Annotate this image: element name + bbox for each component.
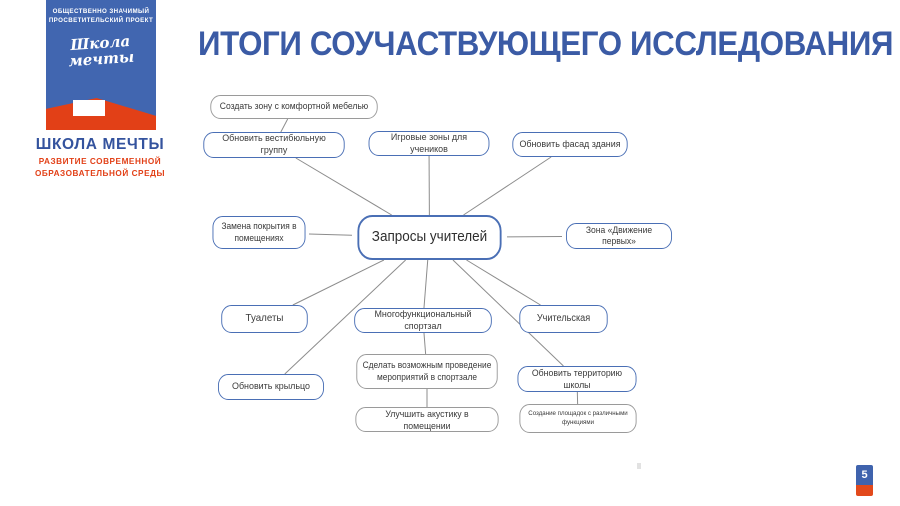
diagram-node-label: Обновить крыльцо <box>232 381 310 393</box>
diagram-node-n11[interactable]: Обновить крыльцо <box>218 374 324 400</box>
diagram-node-n10[interactable]: Сделать возможным проведение мероприятий… <box>356 354 497 389</box>
diagram-node-n4[interactable]: Обновить фасад здания <box>512 132 627 157</box>
diagram-node-label: Игровые зоны для учеников <box>374 132 484 156</box>
diagram-edge-center-n4 <box>463 157 551 215</box>
page-badge-accent <box>856 485 873 496</box>
page-artifact-mark <box>637 463 641 469</box>
diagram-node-n8[interactable]: Многофункциональный спортзал <box>354 308 492 333</box>
diagram-node-label: Туалеты <box>246 312 284 325</box>
diagram-node-n13[interactable]: Улучшить акустику в помещении <box>355 407 498 432</box>
diagram-node-label: Улучшить акустику в помещении <box>361 408 493 432</box>
diagram-node-label: Обновить вестибюльную группу <box>209 133 339 157</box>
diagram-node-label: Обновить территорию школы <box>523 367 631 391</box>
diagram-edge-center-n2 <box>296 158 392 215</box>
diagram-edge-n8-n10 <box>424 333 426 354</box>
diagram-node-label: Зона «Движение первых» <box>572 225 667 248</box>
diagram-node-n14[interactable]: Создание площадок с различными функциями <box>519 404 636 433</box>
diagram-node-label: Обновить фасад здания <box>519 139 620 151</box>
diagram-edge-center-n9 <box>466 260 540 305</box>
diagram-edge-center-n8 <box>424 260 428 308</box>
diagram-edge-center-n7 <box>293 260 384 305</box>
diagram-node-n7[interactable]: Туалеты <box>221 305 307 333</box>
diagram-node-n9[interactable]: Учительская <box>519 305 607 333</box>
diagram-node-n1[interactable]: Создать зону с комфортной мебелью <box>210 95 377 119</box>
diagram-node-n5[interactable]: Замена покрытия в помещениях <box>213 216 306 249</box>
diagram-node-label: Создание площадок с различными функциями <box>525 410 631 426</box>
diagram-node-n3[interactable]: Игровые зоны для учеников <box>369 131 490 156</box>
diagram-node-label: Учительская <box>537 313 590 325</box>
page-number-value: 5 <box>856 465 873 485</box>
diagram-edge-center-n5 <box>309 234 352 235</box>
mindmap-diagram: Запросы учителейСоздать зону с комфортно… <box>0 0 900 506</box>
diagram-node-label: Запросы учителей <box>372 228 487 246</box>
page-number-badge: 5 <box>856 465 873 496</box>
slide-canvas: ОБЩЕСТВЕННО ЗНАЧИМЫЙ ПРОСВЕТИТЕЛЬСКИЙ ПР… <box>0 0 900 506</box>
diagram-node-n12[interactable]: Обновить территорию школы <box>517 366 636 392</box>
diagram-node-label: Замена покрытия в помещениях <box>218 221 300 244</box>
diagram-node-n2[interactable]: Обновить вестибюльную группу <box>203 132 344 158</box>
diagram-node-label: Создать зону с комфортной мебелью <box>220 101 368 113</box>
diagram-edge-n2-n1 <box>281 119 288 132</box>
diagram-node-label: Многофункциональный спортзал <box>360 309 486 333</box>
diagram-node-label: Сделать возможным проведение мероприятий… <box>362 360 492 383</box>
diagram-node-n6[interactable]: Зона «Движение первых» <box>566 223 672 249</box>
diagram-node-center[interactable]: Запросы учителей <box>357 215 501 260</box>
